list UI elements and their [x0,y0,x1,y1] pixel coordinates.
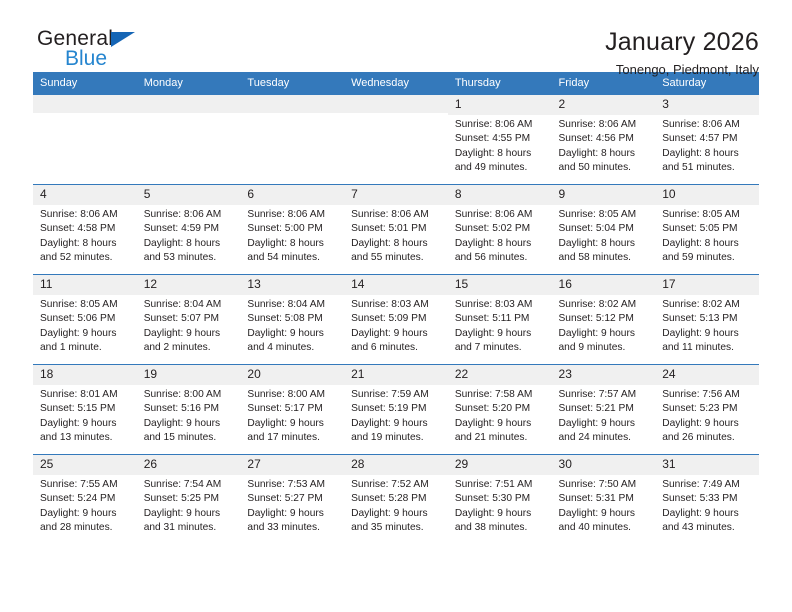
calendar-body: 1Sunrise: 8:06 AMSunset: 4:55 PMDaylight… [33,95,759,545]
sunrise-text: Sunrise: 8:00 AM [247,388,338,402]
day-number: 24 [655,365,759,385]
daylight-text: Daylight: 8 hours and 53 minutes. [144,237,235,266]
day-number: 6 [240,185,344,205]
sunrise-text: Sunrise: 7:49 AM [662,478,753,492]
daylight-text: Daylight: 9 hours and 19 minutes. [351,417,442,446]
sunrise-text: Sunrise: 8:02 AM [662,298,753,312]
sunset-text: Sunset: 5:07 PM [144,312,235,326]
day-number: 27 [240,455,344,475]
day-number: 10 [655,185,759,205]
day-number [137,95,241,113]
sunrise-text: Sunrise: 7:54 AM [144,478,235,492]
weekday-header-thursday: Thursday [448,72,552,95]
day-number: 17 [655,275,759,295]
day-number: 4 [33,185,137,205]
calendar-week-row: 25Sunrise: 7:55 AMSunset: 5:24 PMDayligh… [33,455,759,545]
calendar-day-cell[interactable]: 2Sunrise: 8:06 AMSunset: 4:56 PMDaylight… [552,95,656,185]
daylight-text: Daylight: 9 hours and 33 minutes. [247,507,338,536]
sunrise-text: Sunrise: 7:51 AM [455,478,546,492]
sunset-text: Sunset: 5:33 PM [662,492,753,506]
calendar-week-row: 18Sunrise: 8:01 AMSunset: 5:15 PMDayligh… [33,365,759,455]
sunset-text: Sunset: 5:05 PM [662,222,753,236]
sunset-text: Sunset: 5:27 PM [247,492,338,506]
calendar-day-cell[interactable]: 24Sunrise: 7:56 AMSunset: 5:23 PMDayligh… [655,365,759,455]
sunset-text: Sunset: 5:17 PM [247,402,338,416]
sunrise-text: Sunrise: 8:04 AM [247,298,338,312]
calendar-day-cell[interactable]: 18Sunrise: 8:01 AMSunset: 5:15 PMDayligh… [33,365,137,455]
calendar-day-cell[interactable]: 21Sunrise: 7:59 AMSunset: 5:19 PMDayligh… [344,365,448,455]
calendar-day-cell[interactable]: 23Sunrise: 7:57 AMSunset: 5:21 PMDayligh… [552,365,656,455]
sunrise-text: Sunrise: 8:05 AM [559,208,650,222]
day-number: 7 [344,185,448,205]
sunrise-text: Sunrise: 8:03 AM [455,298,546,312]
sunset-text: Sunset: 5:15 PM [40,402,131,416]
page-header: General Blue January 2026 Tonengo, Piedm… [33,0,759,72]
calendar-day-cell[interactable]: 4Sunrise: 8:06 AMSunset: 4:58 PMDaylight… [33,185,137,275]
weekday-header-tuesday: Tuesday [240,72,344,95]
calendar-grid: SundayMondayTuesdayWednesdayThursdayFrid… [33,72,759,545]
page-title: January 2026 [605,28,759,56]
daylight-text: Daylight: 9 hours and 1 minute. [40,327,131,356]
day-details: Sunrise: 8:06 AMSunset: 4:58 PMDaylight:… [33,205,137,266]
day-number: 21 [344,365,448,385]
day-details: Sunrise: 7:51 AMSunset: 5:30 PMDaylight:… [448,475,552,536]
sunset-text: Sunset: 4:57 PM [662,132,753,146]
sunset-text: Sunset: 5:11 PM [455,312,546,326]
brand-name-blue: Blue [65,48,107,69]
calendar-day-cell[interactable]: 17Sunrise: 8:02 AMSunset: 5:13 PMDayligh… [655,275,759,365]
calendar-day-cell[interactable]: 29Sunrise: 7:51 AMSunset: 5:30 PMDayligh… [448,455,552,545]
calendar-day-cell[interactable]: 5Sunrise: 8:06 AMSunset: 4:59 PMDaylight… [137,185,241,275]
sunrise-text: Sunrise: 8:06 AM [559,118,650,132]
daylight-text: Daylight: 8 hours and 50 minutes. [559,147,650,176]
day-number: 25 [33,455,137,475]
day-details: Sunrise: 8:06 AMSunset: 5:01 PMDaylight:… [344,205,448,266]
sunrise-text: Sunrise: 8:06 AM [662,118,753,132]
daylight-text: Daylight: 9 hours and 2 minutes. [144,327,235,356]
sunset-text: Sunset: 4:55 PM [455,132,546,146]
day-details: Sunrise: 7:50 AMSunset: 5:31 PMDaylight:… [552,475,656,536]
day-details: Sunrise: 8:06 AMSunset: 5:02 PMDaylight:… [448,205,552,266]
sunrise-text: Sunrise: 8:04 AM [144,298,235,312]
daylight-text: Daylight: 9 hours and 31 minutes. [144,507,235,536]
sunset-text: Sunset: 5:01 PM [351,222,442,236]
day-number [344,95,448,113]
sunset-text: Sunset: 4:58 PM [40,222,131,236]
sunset-text: Sunset: 5:20 PM [455,402,546,416]
day-details: Sunrise: 8:05 AMSunset: 5:04 PMDaylight:… [552,205,656,266]
calendar-day-cell[interactable]: 22Sunrise: 7:58 AMSunset: 5:20 PMDayligh… [448,365,552,455]
sunset-text: Sunset: 5:31 PM [559,492,650,506]
sunrise-text: Sunrise: 8:06 AM [144,208,235,222]
day-details: Sunrise: 8:06 AMSunset: 4:55 PMDaylight:… [448,115,552,176]
day-details: Sunrise: 8:06 AMSunset: 4:56 PMDaylight:… [552,115,656,176]
calendar-day-cell-empty [33,95,137,185]
calendar-day-cell[interactable]: 10Sunrise: 8:05 AMSunset: 5:05 PMDayligh… [655,185,759,275]
day-details: Sunrise: 8:05 AMSunset: 5:05 PMDaylight:… [655,205,759,266]
day-number: 26 [137,455,241,475]
daylight-text: Daylight: 9 hours and 21 minutes. [455,417,546,446]
calendar-day-cell[interactable]: 3Sunrise: 8:06 AMSunset: 4:57 PMDaylight… [655,95,759,185]
daylight-text: Daylight: 9 hours and 26 minutes. [662,417,753,446]
day-number: 23 [552,365,656,385]
calendar-day-cell[interactable]: 15Sunrise: 8:03 AMSunset: 5:11 PMDayligh… [448,275,552,365]
day-number: 12 [137,275,241,295]
day-number: 22 [448,365,552,385]
day-details: Sunrise: 7:53 AMSunset: 5:27 PMDaylight:… [240,475,344,536]
calendar-day-cell[interactable]: 16Sunrise: 8:02 AMSunset: 5:12 PMDayligh… [552,275,656,365]
daylight-text: Daylight: 9 hours and 9 minutes. [559,327,650,356]
page-subtitle: Tonengo, Piedmont, Italy [605,63,759,77]
day-details: Sunrise: 8:02 AMSunset: 5:13 PMDaylight:… [655,295,759,356]
sunrise-text: Sunrise: 7:57 AM [559,388,650,402]
sunset-text: Sunset: 5:09 PM [351,312,442,326]
day-details: Sunrise: 8:05 AMSunset: 5:06 PMDaylight:… [33,295,137,356]
daylight-text: Daylight: 8 hours and 49 minutes. [455,147,546,176]
triangle-flag-icon [111,32,135,47]
day-number: 30 [552,455,656,475]
brand-name-general: General [37,28,113,49]
day-details: Sunrise: 7:49 AMSunset: 5:33 PMDaylight:… [655,475,759,536]
calendar-day-cell[interactable]: 7Sunrise: 8:06 AMSunset: 5:01 PMDaylight… [344,185,448,275]
day-details: Sunrise: 7:52 AMSunset: 5:28 PMDaylight:… [344,475,448,536]
day-number: 13 [240,275,344,295]
daylight-text: Daylight: 8 hours and 54 minutes. [247,237,338,266]
title-block: January 2026 Tonengo, Piedmont, Italy [605,28,759,77]
daylight-text: Daylight: 9 hours and 38 minutes. [455,507,546,536]
day-number: 11 [33,275,137,295]
day-details: Sunrise: 8:00 AMSunset: 5:17 PMDaylight:… [240,385,344,446]
brand-logo[interactable]: General Blue [33,28,243,80]
day-details: Sunrise: 8:04 AMSunset: 5:07 PMDaylight:… [137,295,241,356]
calendar-day-cell[interactable]: 13Sunrise: 8:04 AMSunset: 5:08 PMDayligh… [240,275,344,365]
sunset-text: Sunset: 4:59 PM [144,222,235,236]
calendar-day-cell[interactable]: 30Sunrise: 7:50 AMSunset: 5:31 PMDayligh… [552,455,656,545]
sunrise-text: Sunrise: 8:00 AM [144,388,235,402]
day-details: Sunrise: 8:01 AMSunset: 5:15 PMDaylight:… [33,385,137,446]
daylight-text: Daylight: 9 hours and 28 minutes. [40,507,131,536]
calendar-week-row: 1Sunrise: 8:06 AMSunset: 4:55 PMDaylight… [33,95,759,185]
day-number: 15 [448,275,552,295]
sunset-text: Sunset: 5:19 PM [351,402,442,416]
day-details: Sunrise: 7:56 AMSunset: 5:23 PMDaylight:… [655,385,759,446]
day-details: Sunrise: 8:03 AMSunset: 5:09 PMDaylight:… [344,295,448,356]
day-number: 29 [448,455,552,475]
day-number: 1 [448,95,552,115]
calendar-day-cell-empty [344,95,448,185]
day-details: Sunrise: 8:02 AMSunset: 5:12 PMDaylight:… [552,295,656,356]
day-number: 2 [552,95,656,115]
calendar-day-cell[interactable]: 20Sunrise: 8:00 AMSunset: 5:17 PMDayligh… [240,365,344,455]
calendar-page: General Blue January 2026 Tonengo, Piedm… [0,0,792,612]
sunrise-text: Sunrise: 7:53 AM [247,478,338,492]
day-details: Sunrise: 7:59 AMSunset: 5:19 PMDaylight:… [344,385,448,446]
day-details: Sunrise: 8:06 AMSunset: 4:57 PMDaylight:… [655,115,759,176]
sunset-text: Sunset: 5:21 PM [559,402,650,416]
day-number: 3 [655,95,759,115]
calendar-day-cell[interactable]: 12Sunrise: 8:04 AMSunset: 5:07 PMDayligh… [137,275,241,365]
sunrise-text: Sunrise: 7:52 AM [351,478,442,492]
day-number [33,95,137,113]
day-number [240,95,344,113]
daylight-text: Daylight: 8 hours and 52 minutes. [40,237,131,266]
sunset-text: Sunset: 5:02 PM [455,222,546,236]
sunset-text: Sunset: 5:23 PM [662,402,753,416]
sunset-text: Sunset: 5:08 PM [247,312,338,326]
sunrise-text: Sunrise: 7:56 AM [662,388,753,402]
calendar-day-cell[interactable]: 27Sunrise: 7:53 AMSunset: 5:27 PMDayligh… [240,455,344,545]
calendar-week-row: 11Sunrise: 8:05 AMSunset: 5:06 PMDayligh… [33,275,759,365]
daylight-text: Daylight: 9 hours and 24 minutes. [559,417,650,446]
sunrise-text: Sunrise: 8:06 AM [455,118,546,132]
sunset-text: Sunset: 5:06 PM [40,312,131,326]
day-number: 14 [344,275,448,295]
day-details: Sunrise: 7:57 AMSunset: 5:21 PMDaylight:… [552,385,656,446]
daylight-text: Daylight: 9 hours and 40 minutes. [559,507,650,536]
day-number: 16 [552,275,656,295]
sunset-text: Sunset: 4:56 PM [559,132,650,146]
calendar-day-cell-empty [137,95,241,185]
day-number: 31 [655,455,759,475]
day-details: Sunrise: 7:54 AMSunset: 5:25 PMDaylight:… [137,475,241,536]
calendar-day-cell[interactable]: 8Sunrise: 8:06 AMSunset: 5:02 PMDaylight… [448,185,552,275]
calendar-day-cell[interactable]: 19Sunrise: 8:00 AMSunset: 5:16 PMDayligh… [137,365,241,455]
sunrise-text: Sunrise: 7:50 AM [559,478,650,492]
sunset-text: Sunset: 5:24 PM [40,492,131,506]
sunset-text: Sunset: 5:04 PM [559,222,650,236]
sunrise-text: Sunrise: 8:06 AM [40,208,131,222]
daylight-text: Daylight: 9 hours and 6 minutes. [351,327,442,356]
day-number: 5 [137,185,241,205]
sunrise-text: Sunrise: 7:55 AM [40,478,131,492]
day-number: 9 [552,185,656,205]
day-details: Sunrise: 8:03 AMSunset: 5:11 PMDaylight:… [448,295,552,356]
sunrise-text: Sunrise: 7:59 AM [351,388,442,402]
daylight-text: Daylight: 8 hours and 58 minutes. [559,237,650,266]
sunset-text: Sunset: 5:16 PM [144,402,235,416]
sunset-text: Sunset: 5:30 PM [455,492,546,506]
calendar-day-cell[interactable]: 1Sunrise: 8:06 AMSunset: 4:55 PMDaylight… [448,95,552,185]
daylight-text: Daylight: 9 hours and 13 minutes. [40,417,131,446]
sunrise-text: Sunrise: 8:06 AM [455,208,546,222]
sunrise-text: Sunrise: 8:06 AM [351,208,442,222]
sunrise-text: Sunrise: 8:05 AM [40,298,131,312]
calendar-day-cell[interactable]: 31Sunrise: 7:49 AMSunset: 5:33 PMDayligh… [655,455,759,545]
day-details: Sunrise: 8:06 AMSunset: 4:59 PMDaylight:… [137,205,241,266]
sunrise-text: Sunrise: 8:01 AM [40,388,131,402]
day-number: 28 [344,455,448,475]
calendar-day-cell[interactable]: 25Sunrise: 7:55 AMSunset: 5:24 PMDayligh… [33,455,137,545]
daylight-text: Daylight: 8 hours and 59 minutes. [662,237,753,266]
calendar-week-row: 4Sunrise: 8:06 AMSunset: 4:58 PMDaylight… [33,185,759,275]
day-details: Sunrise: 8:00 AMSunset: 5:16 PMDaylight:… [137,385,241,446]
calendar-day-cell[interactable]: 26Sunrise: 7:54 AMSunset: 5:25 PMDayligh… [137,455,241,545]
calendar-day-cell[interactable]: 6Sunrise: 8:06 AMSunset: 5:00 PMDaylight… [240,185,344,275]
day-number: 20 [240,365,344,385]
sunrise-text: Sunrise: 8:06 AM [247,208,338,222]
daylight-text: Daylight: 9 hours and 17 minutes. [247,417,338,446]
day-number: 18 [33,365,137,385]
sunset-text: Sunset: 5:00 PM [247,222,338,236]
daylight-text: Daylight: 9 hours and 11 minutes. [662,327,753,356]
day-details: Sunrise: 8:04 AMSunset: 5:08 PMDaylight:… [240,295,344,356]
sunrise-text: Sunrise: 8:02 AM [559,298,650,312]
daylight-text: Daylight: 8 hours and 51 minutes. [662,147,753,176]
day-details: Sunrise: 7:58 AMSunset: 5:20 PMDaylight:… [448,385,552,446]
sunrise-text: Sunrise: 7:58 AM [455,388,546,402]
sunset-text: Sunset: 5:12 PM [559,312,650,326]
sunset-text: Sunset: 5:13 PM [662,312,753,326]
calendar-day-cell[interactable]: 9Sunrise: 8:05 AMSunset: 5:04 PMDaylight… [552,185,656,275]
daylight-text: Daylight: 8 hours and 56 minutes. [455,237,546,266]
calendar-day-cell[interactable]: 11Sunrise: 8:05 AMSunset: 5:06 PMDayligh… [33,275,137,365]
sunset-text: Sunset: 5:28 PM [351,492,442,506]
sunrise-text: Sunrise: 8:05 AM [662,208,753,222]
day-number: 19 [137,365,241,385]
sunrise-text: Sunrise: 8:03 AM [351,298,442,312]
day-number: 8 [448,185,552,205]
daylight-text: Daylight: 8 hours and 55 minutes. [351,237,442,266]
weekday-header-wednesday: Wednesday [344,72,448,95]
daylight-text: Daylight: 9 hours and 43 minutes. [662,507,753,536]
daylight-text: Daylight: 9 hours and 7 minutes. [455,327,546,356]
sunset-text: Sunset: 5:25 PM [144,492,235,506]
daylight-text: Daylight: 9 hours and 15 minutes. [144,417,235,446]
calendar-day-cell[interactable]: 28Sunrise: 7:52 AMSunset: 5:28 PMDayligh… [344,455,448,545]
day-details: Sunrise: 7:55 AMSunset: 5:24 PMDaylight:… [33,475,137,536]
daylight-text: Daylight: 9 hours and 35 minutes. [351,507,442,536]
calendar-day-cell-empty [240,95,344,185]
daylight-text: Daylight: 9 hours and 4 minutes. [247,327,338,356]
day-details: Sunrise: 8:06 AMSunset: 5:00 PMDaylight:… [240,205,344,266]
calendar-day-cell[interactable]: 14Sunrise: 8:03 AMSunset: 5:09 PMDayligh… [344,275,448,365]
